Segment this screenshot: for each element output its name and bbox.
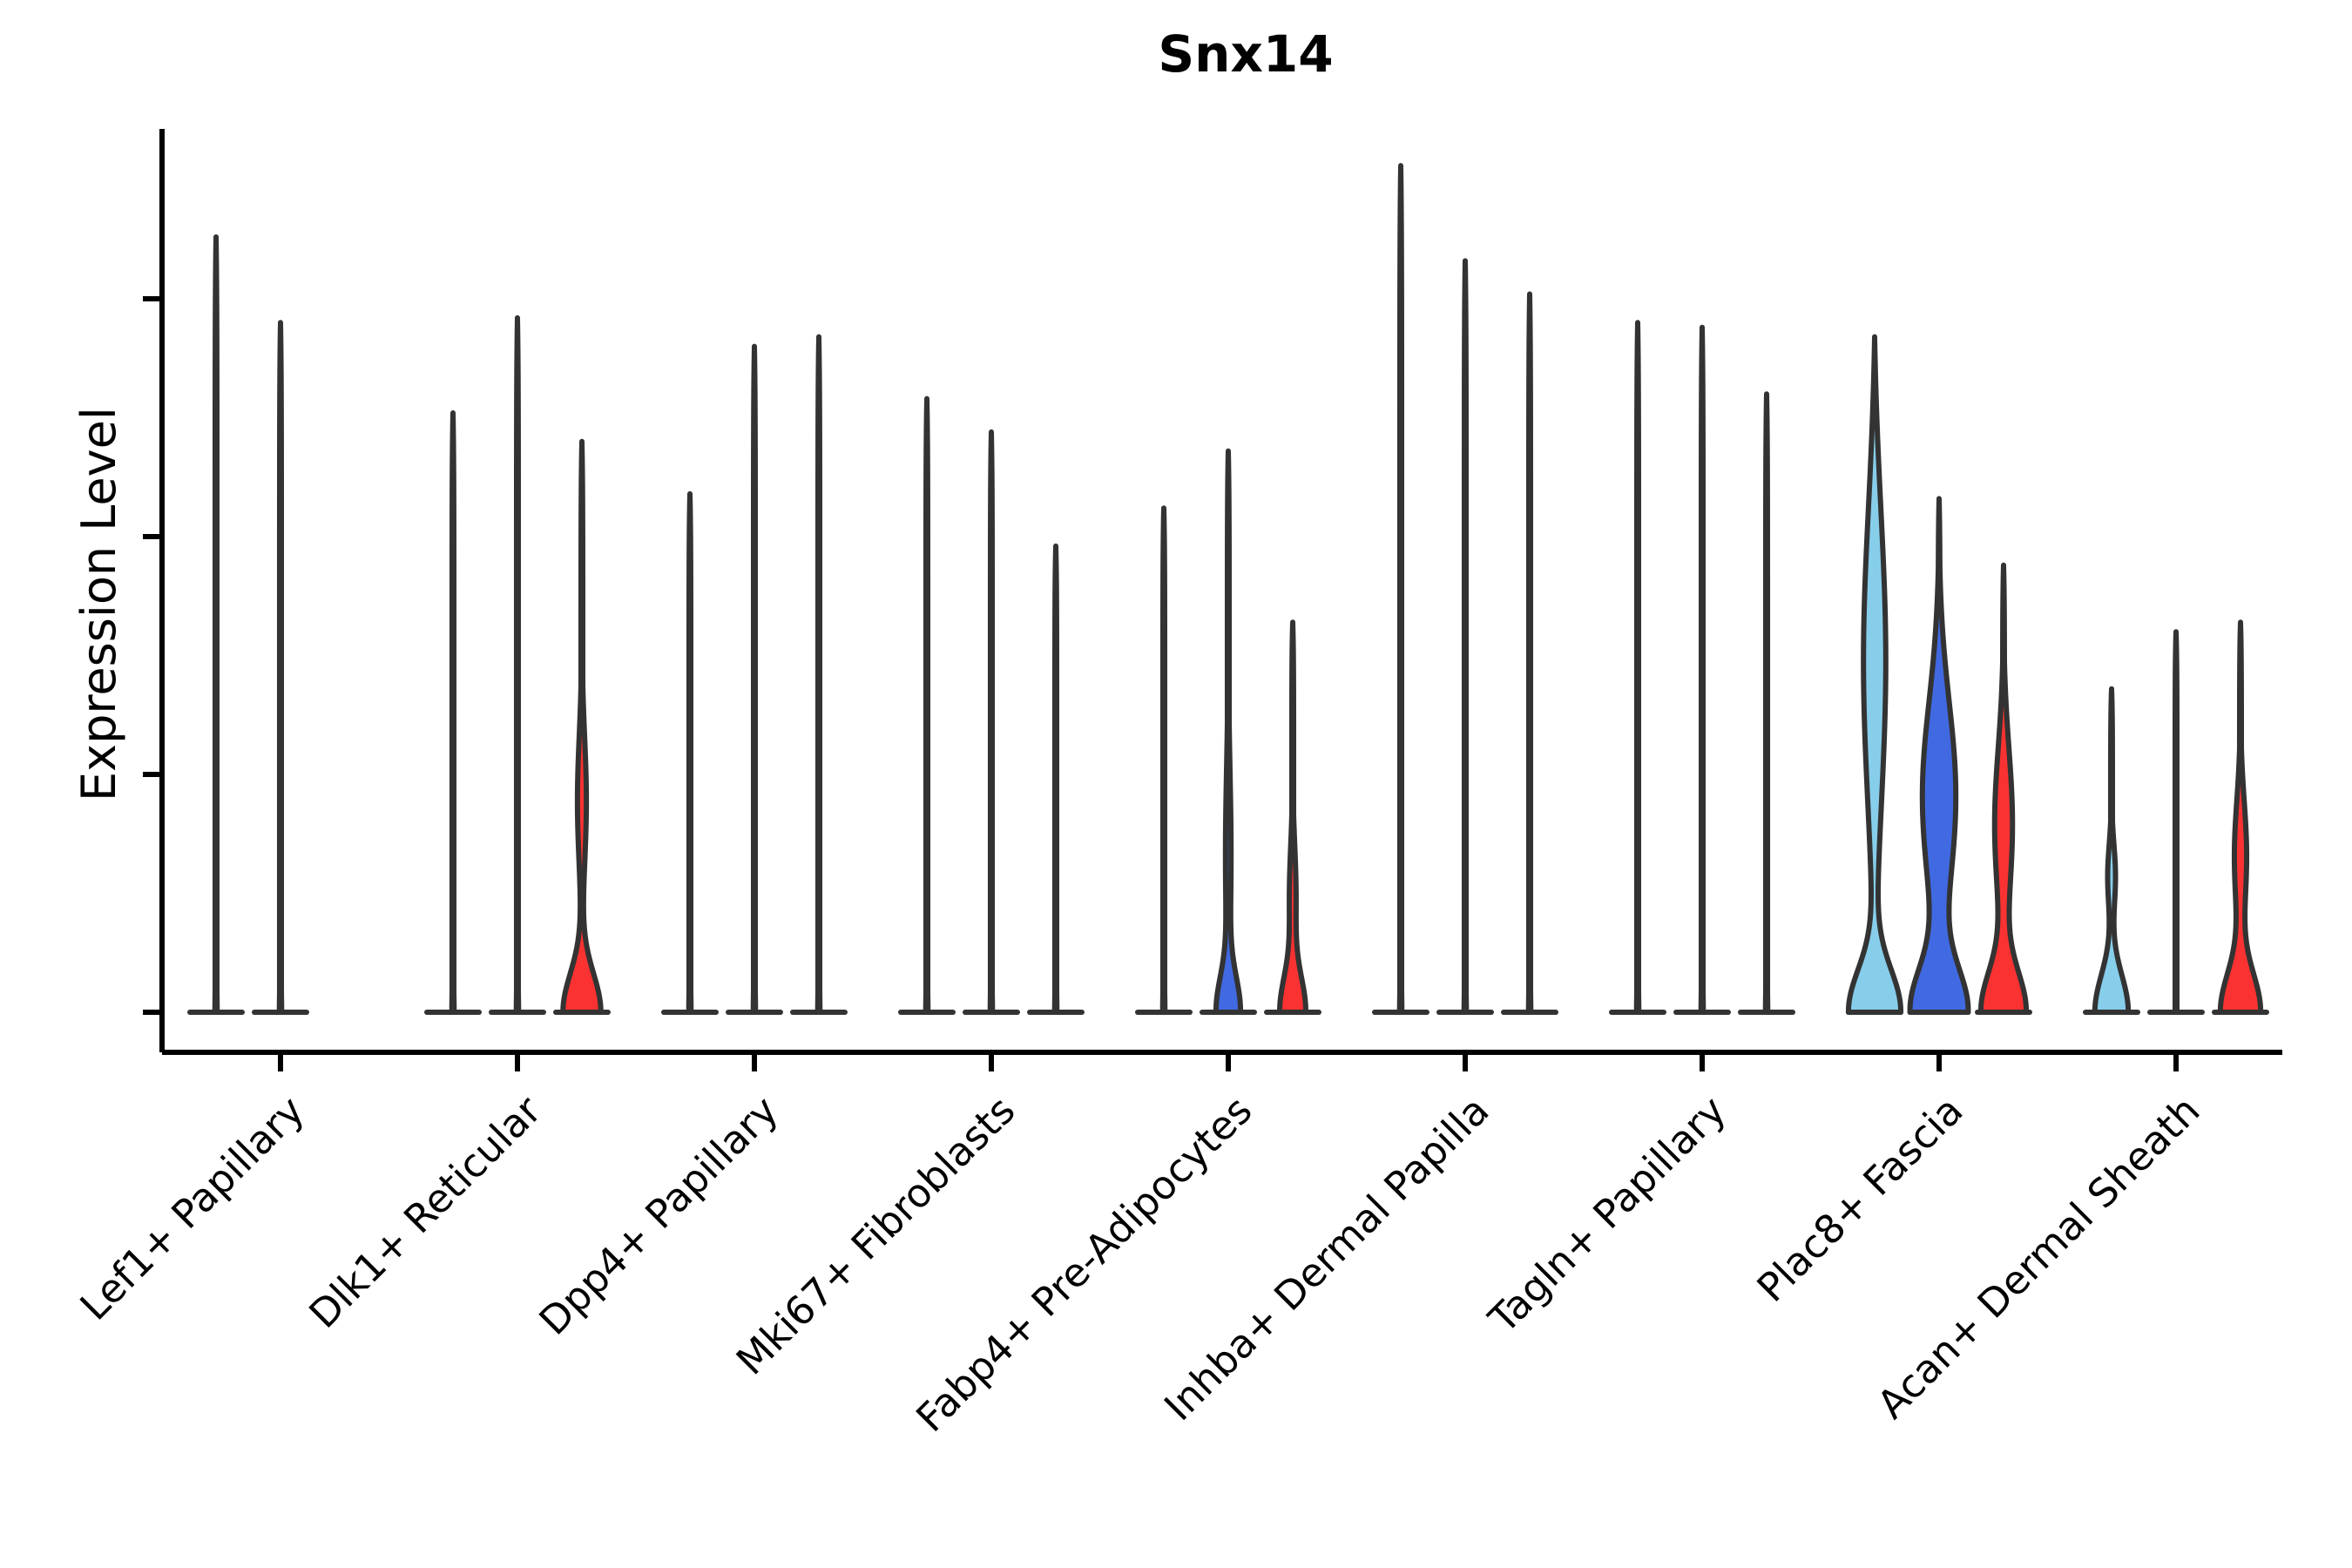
violin-group-1-2[interactable] — [452, 413, 455, 1012]
violin-group-2-1[interactable] — [280, 322, 282, 1012]
violin-group-3-5[interactable] — [1280, 622, 1306, 1012]
violin-group-1-1[interactable] — [215, 237, 218, 1012]
violin-group-3-4[interactable] — [1055, 546, 1058, 1012]
violin-group-2-2[interactable] — [517, 318, 519, 1012]
violin-group-2-6[interactable] — [1464, 260, 1467, 1012]
violin-group-1-3[interactable] — [689, 494, 692, 1012]
violin-group-1-9[interactable] — [2095, 689, 2128, 1012]
violin-group-3-7[interactable] — [1766, 394, 1768, 1012]
violin-group-1-6[interactable] — [1400, 166, 1402, 1012]
violin-chart-canvas — [0, 0, 2352, 1568]
violin-group-3-9[interactable] — [2220, 622, 2261, 1012]
violin-group-2-8[interactable] — [1910, 498, 1969, 1012]
violin-group-2-5[interactable] — [1216, 451, 1240, 1012]
violin-group-1-5[interactable] — [1163, 508, 1166, 1012]
violin-group-3-8[interactable] — [1981, 565, 2026, 1012]
violin-group-3-3[interactable] — [818, 337, 821, 1012]
violin-group-1-8[interactable] — [1848, 337, 1901, 1012]
axis-layer — [143, 129, 2282, 1071]
violin-group-2-7[interactable] — [1701, 328, 1704, 1012]
violin-plot-figure: Snx14 Expression Level 0.00.51.01.5 Lef1… — [0, 0, 2352, 1568]
violin-group-2-3[interactable] — [754, 347, 756, 1012]
violins-layer — [190, 166, 2267, 1012]
violin-group-1-4[interactable] — [926, 399, 929, 1012]
violin-group-2-4[interactable] — [990, 432, 993, 1012]
violin-group-2-9[interactable] — [2175, 632, 2177, 1012]
violin-group-3-6[interactable] — [1529, 294, 1531, 1012]
violin-group-3-2[interactable] — [563, 442, 601, 1012]
violin-group-1-7[interactable] — [1637, 322, 1639, 1012]
